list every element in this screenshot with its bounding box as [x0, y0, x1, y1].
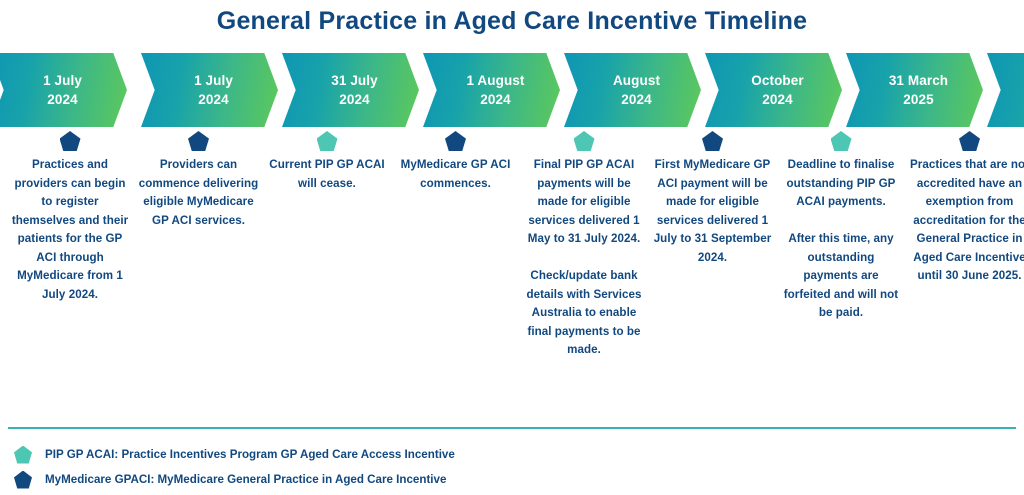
pentagon-teal-icon — [574, 131, 595, 151]
timeline-item-body: Providers can commence delivering eligib… — [137, 156, 261, 230]
timeline-chevron-strip: 1 July20241 July202431 July20241 August2… — [0, 53, 1024, 127]
timeline-item-paragraph: Providers can commence delivering eligib… — [137, 156, 261, 230]
chevron-date-year: 2025 — [903, 90, 933, 109]
timeline-item-body: First MyMedicare GP ACI payment will be … — [651, 156, 775, 267]
timeline-item-2: Providers can commence delivering eligib… — [137, 131, 261, 230]
chevron-date-day: 1 July — [194, 71, 233, 90]
timeline-item-7: Deadline to finalise outstanding PIP GP … — [779, 131, 903, 323]
pentagon-blue-icon — [188, 131, 209, 151]
timeline-item-4: MyMedicare GP ACI commences. — [394, 131, 518, 193]
timeline-chevron-2: 1 July2024 — [141, 53, 278, 127]
pentagon-teal-icon — [831, 131, 852, 151]
timeline-item-paragraph: Current PIP GP ACAI will cease. — [265, 156, 389, 193]
chevron-date-year: 2024 — [198, 90, 228, 109]
timeline-item-body: Deadline to finalise outstanding PIP GP … — [779, 156, 903, 323]
timeline-chevron-7: 31 March2025 — [846, 53, 983, 127]
timeline-item-paragraph: After this time, any outstanding payment… — [779, 230, 903, 323]
timeline-item-8: Practices that are not accredited have a… — [908, 131, 1024, 286]
timeline-chevron-3: 31 July2024 — [282, 53, 419, 127]
timeline-item-5: Final PIP GP ACAI payments will be made … — [522, 131, 646, 360]
timeline-item-6: First MyMedicare GP ACI payment will be … — [651, 131, 775, 267]
timeline-item-paragraph: MyMedicare GP ACI commences. — [394, 156, 518, 193]
legend-row-1: PIP GP ACAI: Practice Incentives Program… — [14, 442, 814, 467]
timeline-item-paragraph: Final PIP GP ACAI payments will be made … — [522, 156, 646, 249]
timeline-item-paragraph: Deadline to finalise outstanding PIP GP … — [779, 156, 903, 212]
timeline-chevron-4: 1 August2024 — [423, 53, 560, 127]
chevron-date-year: 2024 — [480, 90, 510, 109]
timeline-chevron-8: 30 June2025 — [987, 53, 1024, 127]
chevron-date-day: 31 March — [889, 71, 948, 90]
legend-label: PIP GP ACAI: Practice Incentives Program… — [45, 448, 455, 462]
timeline-item-paragraph: First MyMedicare GP ACI payment will be … — [651, 156, 775, 267]
page-title: General Practice in Aged Care Incentive … — [0, 6, 1024, 36]
chevron-date-day: 1 July — [43, 71, 82, 90]
legend-divider — [8, 427, 1016, 429]
timeline-item-body: Practices and providers can begin to reg… — [8, 156, 132, 304]
timeline-columns: Practices and providers can begin to reg… — [0, 131, 1024, 421]
legend-row-2: MyMedicare GPACI: MyMedicare General Pra… — [14, 467, 814, 492]
timeline-item-body: Current PIP GP ACAI will cease. — [265, 156, 389, 193]
chevron-date-day: 1 August — [466, 71, 524, 90]
pentagon-blue-icon — [60, 131, 81, 151]
timeline-chevron-6: October2024 — [705, 53, 842, 127]
timeline-chevron-5: August2024 — [564, 53, 701, 127]
timeline-item-paragraph: Practices that are not accredited have a… — [908, 156, 1024, 286]
legend-pentagon-teal-icon — [14, 446, 32, 464]
timeline-item-1: Practices and providers can begin to reg… — [8, 131, 132, 304]
pentagon-blue-icon — [959, 131, 980, 151]
timeline-item-body: Practices that are not accredited have a… — [908, 156, 1024, 286]
legend-pentagon-blue-icon — [14, 471, 32, 489]
chevron-date-year: 2024 — [339, 90, 369, 109]
timeline-item-paragraph: Practices and providers can begin to reg… — [8, 156, 132, 304]
timeline-item-paragraph: Check/update bank details with Services … — [522, 267, 646, 360]
pentagon-blue-icon — [702, 131, 723, 151]
pentagon-blue-icon — [445, 131, 466, 151]
legend-label: MyMedicare GPACI: MyMedicare General Pra… — [45, 473, 446, 487]
legend: PIP GP ACAI: Practice Incentives Program… — [14, 442, 814, 492]
chevron-date-day: 31 July — [331, 71, 377, 90]
pentagon-teal-icon — [317, 131, 338, 151]
timeline-item-body: MyMedicare GP ACI commences. — [394, 156, 518, 193]
chevron-date-year: 2024 — [621, 90, 651, 109]
chevron-date-day: August — [613, 71, 660, 90]
timeline-item-body: Final PIP GP ACAI payments will be made … — [522, 156, 646, 360]
chevron-date-year: 2024 — [762, 90, 792, 109]
chevron-date-year: 2024 — [47, 90, 77, 109]
timeline-chevron-1: 1 July2024 — [0, 53, 127, 127]
timeline-item-3: Current PIP GP ACAI will cease. — [265, 131, 389, 193]
chevron-date-day: October — [751, 71, 803, 90]
